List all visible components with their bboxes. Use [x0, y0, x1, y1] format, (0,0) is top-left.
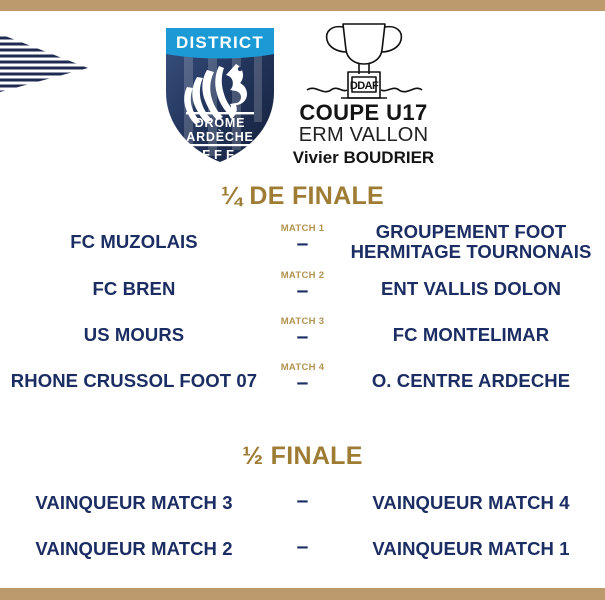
semi-final-heading: ½ FINALE — [0, 442, 605, 471]
match-row: US MOURSMATCH 3–FC MONTELIMAR — [0, 312, 605, 358]
trophy-icon: DDAF — [305, 14, 423, 102]
home-team-name: VAINQUEUR MATCH 2 — [0, 539, 272, 559]
match-row: VAINQUEUR MATCH 2–VAINQUEUR MATCH 1 — [0, 526, 605, 572]
match-separator: MATCH 3– — [272, 312, 333, 358]
logo-line-3: FFF — [202, 147, 238, 162]
top-accent-bar — [0, 0, 605, 11]
match-separator: MATCH 1– — [272, 219, 333, 265]
match-separator: MATCH 2– — [272, 266, 333, 312]
score-dash: – — [272, 535, 333, 559]
quarter-final-matches: FC MUZOLAISMATCH 1–GROUPEMENT FOOT HERMI… — [0, 218, 605, 404]
home-team-name: US MOURS — [0, 325, 272, 345]
logo-line-1: DRÔME — [194, 115, 245, 130]
match-row: RHONE CRUSSOL FOOT 07MATCH 4–O. CENTRE A… — [0, 358, 605, 404]
cup-subtitle: ERM VALLON — [299, 124, 428, 146]
match-row: VAINQUEUR MATCH 3–VAINQUEUR MATCH 4 — [0, 480, 605, 526]
organizer-last-name: BOUDRIER — [344, 148, 435, 167]
home-team-name: RHONE CRUSSOL FOOT 07 — [0, 371, 272, 391]
logo-banner-text: DISTRICT — [176, 33, 264, 52]
logo-line-2: ARDÈCHE — [186, 129, 253, 144]
home-team-name: VAINQUEUR MATCH 3 — [0, 493, 272, 513]
header: DISTRICT DRÔME ARDÈCHE FFF — [0, 14, 605, 174]
trophy-plaque-text: DDAF — [349, 80, 378, 92]
coupe-u17-emblem: DDAF COUPE U17 ERM VALLON Vivier BOUDRIE… — [284, 14, 444, 169]
score-dash: – — [272, 489, 333, 513]
match-separator: MATCH 4– — [272, 358, 333, 404]
away-team-name: FC MONTELIMAR — [333, 325, 605, 345]
away-team-name: VAINQUEUR MATCH 1 — [333, 539, 605, 559]
quarter-final-heading: ¼ DE FINALE — [0, 182, 605, 211]
away-team-name: O. CENTRE ARDECHE — [333, 371, 605, 391]
bottom-accent-bar — [0, 588, 605, 600]
score-dash: – — [272, 325, 333, 349]
match-separator: – — [272, 480, 333, 526]
away-team-name: GROUPEMENT FOOT HERMITAGE TOURNONAIS — [333, 222, 605, 262]
match-row: FC BRENMATCH 2–ENT VALLIS DOLON — [0, 266, 605, 312]
semi-final-matches: VAINQUEUR MATCH 3–VAINQUEUR MATCH 4VAINQ… — [0, 480, 605, 572]
home-team-name: FC MUZOLAIS — [0, 232, 272, 252]
cup-title: COUPE U17 — [299, 101, 427, 124]
score-dash: – — [272, 371, 333, 395]
score-dash: – — [272, 279, 333, 303]
organizer-first-name: Vivier — [293, 148, 344, 167]
cup-organizer-name: Vivier BOUDRIER — [293, 147, 434, 168]
district-drome-ardeche-logo: DISTRICT DRÔME ARDÈCHE FFF — [162, 14, 278, 166]
away-team-name: VAINQUEUR MATCH 4 — [333, 493, 605, 513]
match-separator: – — [272, 526, 333, 572]
score-dash: – — [272, 232, 333, 256]
away-team-name: ENT VALLIS DOLON — [333, 279, 605, 299]
home-team-name: FC BREN — [0, 279, 272, 299]
match-row: FC MUZOLAISMATCH 1–GROUPEMENT FOOT HERMI… — [0, 218, 605, 266]
